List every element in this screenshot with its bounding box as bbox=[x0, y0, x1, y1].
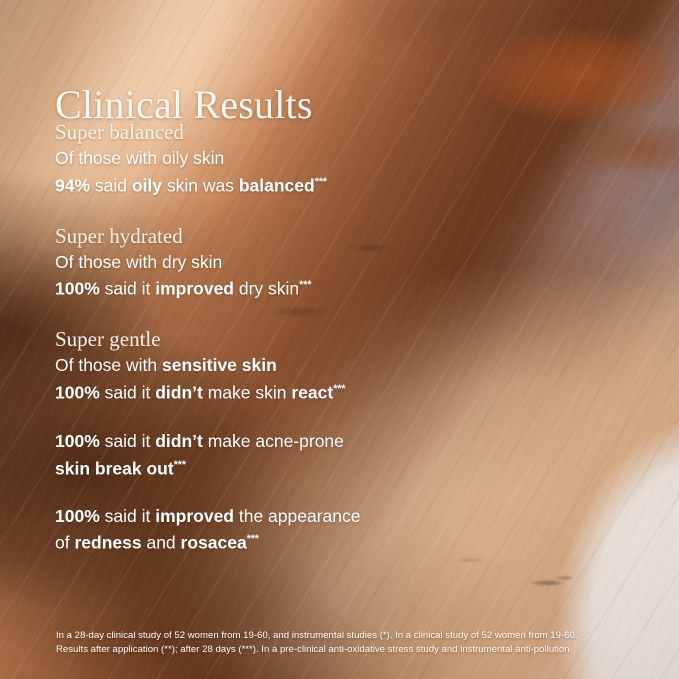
result-block-heading: Super gentle bbox=[55, 326, 475, 353]
emphasis-text: balanced bbox=[239, 175, 315, 195]
plain-text: make skin bbox=[203, 383, 292, 403]
result-block: Super gentleOf those with sensitive skin… bbox=[55, 326, 475, 405]
result-statement-line: Of those with sensitive skin bbox=[55, 354, 475, 378]
result-statement-line: 100% said it improved the appearance bbox=[55, 505, 475, 529]
result-statement-line: Of those with dry skin bbox=[55, 251, 475, 275]
result-block-heading: Super hydrated bbox=[55, 223, 475, 250]
emphasis-text: 94% bbox=[55, 175, 90, 195]
result-block: Super hydratedOf those with dry skin100%… bbox=[55, 223, 475, 302]
result-statement-line: 100% said it improved dry skin*** bbox=[55, 274, 475, 301]
result-block: 100% said it didn’t make acne-proneskin … bbox=[55, 430, 475, 481]
footnote-line-2: Results after application (**); after 28… bbox=[56, 643, 656, 657]
result-block-heading: Super balanced bbox=[55, 119, 475, 146]
result-statement-line: of redness and rosacea*** bbox=[55, 528, 475, 555]
emphasis-text: 100% bbox=[55, 279, 100, 299]
plain-text: said it bbox=[100, 279, 155, 299]
emphasis-text: 100% bbox=[55, 431, 100, 451]
result-statement-line: Of those with oily skin bbox=[55, 147, 475, 171]
footnote-line-1: In a 28-day clinical study of 52 women f… bbox=[56, 629, 656, 643]
plain-text: Of those with dry skin bbox=[55, 252, 222, 272]
footnote-marker: *** bbox=[247, 533, 259, 545]
emphasis-text: oily bbox=[132, 175, 162, 195]
results-list: Super balancedOf those with oily skin94%… bbox=[55, 119, 475, 580]
result-block: 100% said it improved the appearanceof r… bbox=[55, 505, 475, 556]
emphasis-text: skin break out bbox=[55, 458, 174, 478]
emphasis-text: redness bbox=[74, 533, 141, 553]
plain-text: of bbox=[55, 533, 74, 553]
footnote-marker: *** bbox=[333, 383, 345, 395]
emphasis-text: 100% bbox=[55, 506, 100, 526]
emphasis-text: react bbox=[291, 383, 333, 403]
plain-text: said it bbox=[100, 383, 155, 403]
footnote-marker: *** bbox=[315, 176, 327, 188]
result-statement-line: 100% said it didn’t make acne-prone bbox=[55, 430, 475, 454]
emphasis-text: didn’t bbox=[155, 431, 203, 451]
plain-text: skin was bbox=[162, 175, 239, 195]
result-statement-line: skin break out*** bbox=[55, 454, 475, 481]
plain-text: dry skin bbox=[234, 279, 299, 299]
result-block: Super balancedOf those with oily skin94%… bbox=[55, 119, 475, 198]
footnote-marker: *** bbox=[299, 279, 311, 291]
emphasis-text: 100% bbox=[55, 383, 100, 403]
clinical-results-panel: Clinical Results Super balancedOf those … bbox=[0, 0, 679, 679]
plain-text: said bbox=[90, 175, 132, 195]
plain-text: said it bbox=[100, 431, 155, 451]
plain-text: Of those with bbox=[55, 355, 162, 375]
result-statement-line: 100% said it didn’t make skin react*** bbox=[55, 378, 475, 405]
plain-text: and bbox=[142, 533, 181, 553]
result-statement-line: 94% said oily skin was balanced*** bbox=[55, 171, 475, 198]
emphasis-text: sensitive skin bbox=[162, 355, 277, 375]
emphasis-text: didn’t bbox=[155, 383, 203, 403]
emphasis-text: improved bbox=[155, 506, 234, 526]
emphasis-text: improved bbox=[155, 279, 234, 299]
plain-text: Of those with oily skin bbox=[55, 148, 224, 168]
plain-text: said it bbox=[100, 506, 155, 526]
footnote-marker: *** bbox=[174, 459, 186, 471]
footnote-disclaimer: In a 28-day clinical study of 52 women f… bbox=[56, 629, 656, 656]
plain-text: make acne-prone bbox=[203, 431, 344, 451]
emphasis-text: rosacea bbox=[181, 533, 247, 553]
plain-text: the appearance bbox=[234, 506, 361, 526]
content-overlay: Clinical Results Super balancedOf those … bbox=[0, 0, 679, 679]
